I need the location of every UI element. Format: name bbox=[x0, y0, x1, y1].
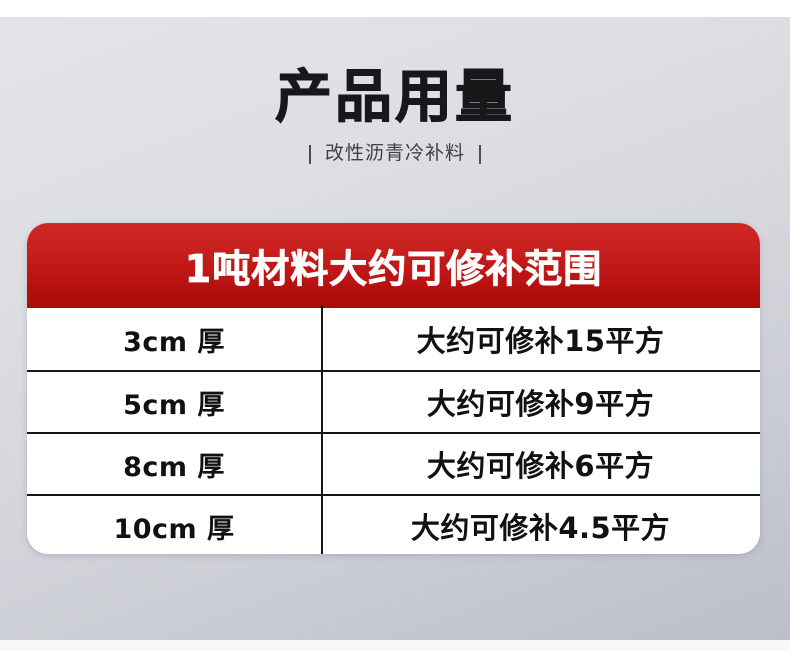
table-row: 10cm 厚 大约可修补4.5平方 bbox=[27, 494, 760, 554]
background-bottom-strip bbox=[0, 640, 790, 651]
cell-thickness: 3cm 厚 bbox=[27, 308, 321, 370]
page-title: 产品用量 bbox=[0, 62, 790, 132]
subtitle-right-bar-icon bbox=[479, 145, 481, 164]
cell-thickness: 5cm 厚 bbox=[27, 372, 321, 432]
cell-area: 大约可修补15平方 bbox=[321, 308, 760, 370]
coverage-table: 3cm 厚 大约可修补15平方 5cm 厚 大约可修补9平方 8cm 厚 大约可… bbox=[27, 308, 760, 554]
page-subtitle: 改性沥青冷补料 bbox=[0, 141, 790, 167]
table-row: 3cm 厚 大约可修补15平方 bbox=[27, 308, 760, 370]
background-top-strip bbox=[0, 0, 790, 17]
card-banner-label: 1吨材料大约可修补范围 bbox=[185, 238, 602, 293]
table-row: 5cm 厚 大约可修补9平方 bbox=[27, 370, 760, 432]
page-subtitle-text: 改性沥青冷补料 bbox=[325, 141, 465, 167]
table-column-divider bbox=[321, 308, 323, 554]
cell-thickness: 8cm 厚 bbox=[27, 434, 321, 494]
cell-area: 大约可修补6平方 bbox=[321, 434, 760, 494]
table-row: 8cm 厚 大约可修补6平方 bbox=[27, 432, 760, 494]
cell-area: 大约可修补4.5平方 bbox=[321, 496, 760, 554]
cell-area: 大约可修补9平方 bbox=[321, 372, 760, 432]
subtitle-left-bar-icon bbox=[309, 145, 311, 164]
heading-block: 产品用量 改性沥青冷补料 bbox=[0, 62, 790, 167]
coverage-card: 1吨材料大约可修补范围 3cm 厚 大约可修补15平方 5cm 厚 大约可修补9… bbox=[27, 223, 760, 554]
card-banner: 1吨材料大约可修补范围 bbox=[27, 223, 760, 308]
cell-thickness: 10cm 厚 bbox=[27, 496, 321, 554]
product-usage-infographic: 产品用量 改性沥青冷补料 1吨材料大约可修补范围 3cm 厚 大约可修补15平方… bbox=[0, 0, 790, 651]
